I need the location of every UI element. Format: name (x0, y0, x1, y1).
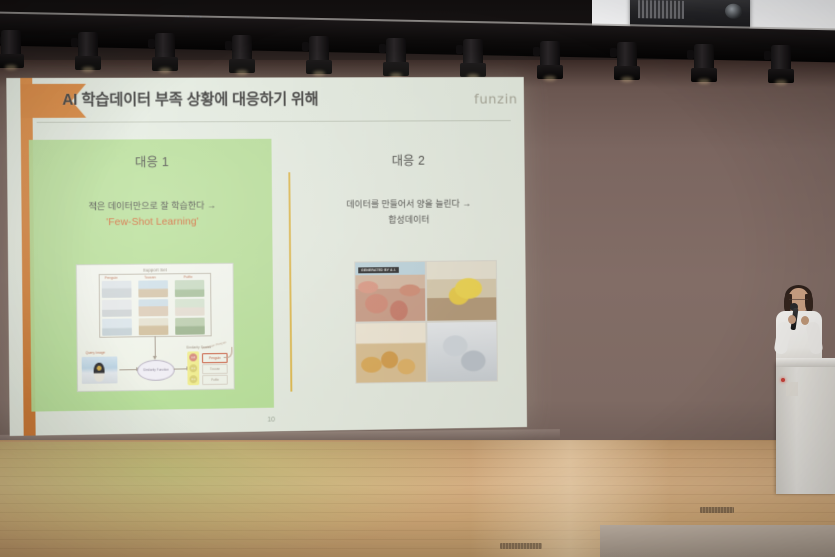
spotlight-3 (229, 35, 255, 79)
support-set-thumb-3 (102, 300, 132, 317)
presentation-slide: AI 학습데이터 부족 상황에 대응하기 위해 funzin 대응 1 적은 데… (6, 77, 527, 436)
column-2-body-text: 데이터를 만들어서 양을 늘린다 → (303, 196, 513, 212)
spotlight-knob (764, 51, 771, 60)
support-class-label-1: Toucan (144, 275, 155, 279)
column-divider (288, 172, 292, 391)
diagram-arrow-right-icon-2 (174, 368, 188, 369)
similarity-score-label-2: Puffin (202, 375, 228, 385)
presenter-hand-right (801, 316, 809, 325)
query-image (82, 356, 118, 383)
spotlight-knob (379, 44, 386, 53)
prediction-curve-icon (224, 347, 233, 358)
penguin-shape-icon (94, 363, 105, 382)
spotlight-9 (691, 44, 717, 88)
stage-riser (600, 525, 835, 557)
support-set-thumb-2 (175, 280, 205, 297)
spotlight-knob (0, 36, 1, 45)
spotlight-4 (306, 36, 332, 80)
podium-power-led-icon (781, 378, 785, 382)
similarity-score-dot-1: 0.1 (189, 364, 197, 372)
similarity-score-label-1: Toucan (202, 364, 228, 374)
spotlight-knob (533, 47, 540, 56)
slide-page-number: 10 (10, 412, 527, 428)
spotlight-7 (537, 41, 563, 85)
spotlight-glow (621, 77, 633, 82)
spotlight-glow (544, 76, 556, 81)
funzin-logo: funzin (474, 93, 518, 108)
ai-image-cell-3 (427, 322, 497, 382)
column-2-heading: 대응 2 (303, 149, 513, 169)
spotlight-glow (698, 79, 710, 84)
projector-light-spill (0, 442, 470, 557)
ai-image-cell-0: GENERATED BY A.I. (355, 262, 425, 322)
presentation-room-photo: 사람의 교 증증 세기-1 세계기업 K AI 학습데이터 부족 상황에 대응하… (0, 0, 835, 557)
spotlight-knob (148, 39, 155, 48)
spotlight-knob (71, 38, 78, 47)
spotlight-1 (75, 32, 101, 76)
support-set-thumb-5 (175, 299, 205, 316)
support-set-thumb-0 (102, 281, 132, 298)
slide-header: AI 학습데이터 부족 상황에 대응하기 위해 funzin (62, 85, 511, 122)
spotlight-knob (456, 45, 463, 54)
spotlight-glow (159, 68, 171, 73)
projection-screen: AI 학습데이터 부족 상황에 대응하기 위해 funzin 대응 1 적은 데… (6, 77, 527, 436)
support-set-thumb-8 (175, 318, 205, 335)
spotlight-glow (5, 65, 17, 70)
column-2-body: 데이터를 만들어서 양을 늘린다 → 합성데이터 (303, 196, 513, 228)
ai-image-cell-2 (356, 323, 426, 383)
podium-top-surface (776, 358, 835, 367)
support-class-label-2: Puffin (184, 275, 193, 279)
projector-vent (638, 0, 684, 19)
support-class-label-0: Penguin (105, 276, 118, 280)
diagram-arrow-right-icon-1 (119, 369, 137, 370)
slide-title: AI 학습데이터 부족 상황에 대응하기 위해 (62, 87, 318, 110)
diagram-arrow-down-icon (155, 336, 156, 358)
generated-by-ai-badge: GENERATED BY A.I. (358, 267, 399, 273)
spotlight-knob (687, 50, 694, 59)
similarity-function-label: Similarity Function (138, 361, 174, 380)
floor-vent-mid (700, 507, 734, 513)
similarity-score-dot-2: 0.1 (189, 375, 197, 383)
spotlight-0 (0, 30, 24, 74)
support-set-thumb-1 (138, 280, 168, 297)
support-set-thumb-7 (139, 318, 169, 335)
podium-control-panel[interactable] (786, 382, 798, 396)
spotlight-5 (383, 38, 409, 82)
podium (776, 362, 835, 494)
query-image-label: Query Image (86, 351, 105, 355)
spotlight-2 (152, 33, 178, 77)
column-1-accent-text: 'Few-Shot Learning' (30, 214, 275, 232)
spotlight-knob (302, 42, 309, 51)
ai-image-cell-1 (427, 261, 497, 321)
column-1-body: 적은 데이터만으로 잘 학습한다 → 'Few-Shot Learning' (29, 198, 274, 232)
support-set-images (77, 264, 233, 266)
spotlight-glow (775, 80, 787, 85)
column-2-accent-text: 합성데이터 (303, 212, 513, 228)
spotlight-8 (614, 42, 640, 86)
presenter-hand-left (788, 315, 796, 324)
column-1-body-text: 적은 데이터만으로 잘 학습한다 → (29, 198, 274, 214)
projector-lens-icon (725, 4, 742, 19)
spotlight-glow (313, 71, 325, 76)
spotlight-knob (610, 48, 617, 57)
few-shot-learning-diagram: Support Set Penguin Toucan Puffin Query … (76, 263, 235, 392)
column-1-heading: 대응 1 (29, 151, 274, 171)
spotlight-knob (225, 41, 232, 50)
spotlight-glow (236, 70, 248, 75)
similarity-score-dot-0: 0.8 (189, 353, 197, 361)
support-set-thumb-6 (102, 318, 132, 335)
spotlight-glow (82, 67, 94, 72)
support-set-thumb-4 (138, 299, 168, 316)
similarity-function-node: Similarity Function (137, 360, 175, 381)
similarity-score-list: 0.8Penguin0.1Toucan0.1Puffin (77, 264, 233, 266)
ai-generated-images-grid: GENERATED BY A.I. (354, 260, 498, 384)
spotlight-10 (768, 45, 794, 89)
floor-vent-left (500, 543, 542, 549)
